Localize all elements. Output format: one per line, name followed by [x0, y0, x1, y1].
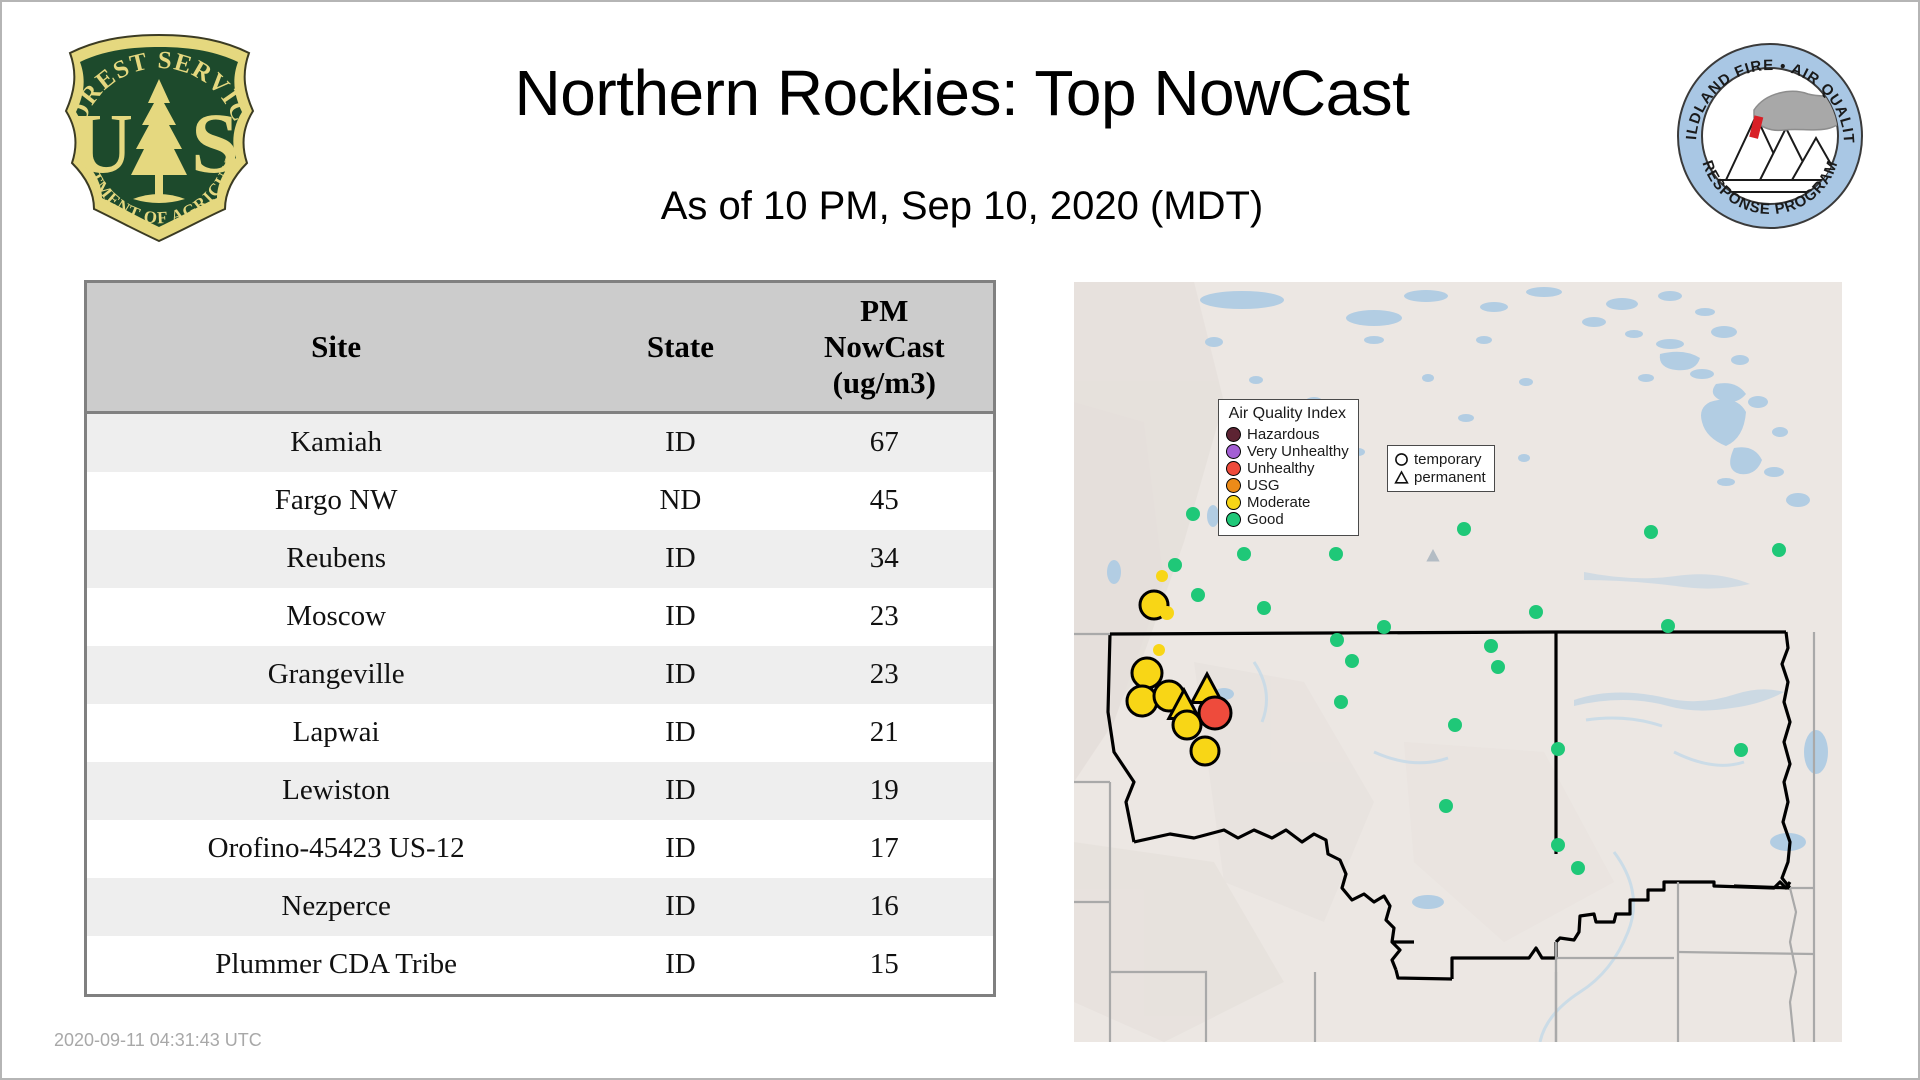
map-marker-temporary[interactable]	[1439, 799, 1453, 813]
legend-label-permanent: permanent	[1414, 469, 1486, 486]
table-cell-state: ID	[585, 762, 775, 820]
aqi-legend: Air Quality Index HazardousVery Unhealth…	[1218, 399, 1359, 536]
aqi-legend-row: Very Unhealthy	[1226, 443, 1349, 460]
map-marker-temporary[interactable]	[1330, 633, 1344, 647]
column-header-site: Site	[87, 283, 585, 412]
table-row: LewistonID19	[87, 762, 993, 820]
aqi-legend-swatch	[1226, 478, 1241, 493]
column-header-pm-line3: (ug/m3)	[780, 365, 989, 401]
table-cell-site: Nezperce	[87, 878, 585, 936]
page-subtitle: As of 10 PM, Sep 10, 2020 (MDT)	[272, 184, 1652, 229]
table-cell-state: ID	[585, 646, 775, 704]
map-marker-temporary[interactable]	[1661, 619, 1675, 633]
map-marker-temporary[interactable]	[1734, 743, 1748, 757]
legend-label-temporary: temporary	[1414, 451, 1482, 468]
map-marker-temporary[interactable]	[1529, 605, 1543, 619]
map-marker-temporary[interactable]	[1160, 606, 1174, 620]
table-row: KamiahID67	[87, 412, 993, 472]
aqi-legend-swatch	[1226, 427, 1241, 442]
table-row: GrangevilleID23	[87, 646, 993, 704]
map-marker-temporary[interactable]	[1173, 711, 1201, 739]
map-marker-temporary[interactable]	[1191, 588, 1205, 602]
table-cell-state: ID	[585, 936, 775, 994]
usfs-shield-logo: FOREST SERVICE DEPARTMENT OF AGRICULTURE…	[57, 27, 262, 247]
table-cell-state: ID	[585, 412, 775, 472]
table-cell-site: Reubens	[87, 530, 585, 588]
table-cell-state: ID	[585, 878, 775, 936]
legend-row-permanent: permanent	[1394, 468, 1486, 486]
map-marker-temporary[interactable]	[1199, 697, 1231, 729]
map-marker-temporary[interactable]	[1329, 547, 1343, 561]
aqi-legend-label: Unhealthy	[1247, 460, 1315, 477]
aqi-legend-label: Good	[1247, 511, 1284, 528]
aqi-legend-row: Moderate	[1226, 494, 1349, 511]
table-cell-state: ID	[585, 588, 775, 646]
permanent-triangle-icon	[1394, 470, 1409, 485]
column-header-state: State	[585, 283, 775, 412]
table-row: Fargo NWND45	[87, 472, 993, 530]
map-marker-temporary[interactable]	[1153, 644, 1165, 656]
nowcast-table: Site State PM NowCast (ug/m3) KamiahID67…	[84, 280, 996, 997]
map-marker-temporary[interactable]	[1571, 861, 1585, 875]
aqi-legend-swatch	[1226, 461, 1241, 476]
air-quality-map[interactable]	[1074, 282, 1842, 1042]
aqi-legend-label: Hazardous	[1247, 426, 1320, 443]
usfs-letter-u: U	[71, 95, 133, 191]
table-cell-site: Moscow	[87, 588, 585, 646]
usfs-letter-s: S	[191, 95, 239, 191]
map-marker-temporary[interactable]	[1377, 620, 1391, 634]
map-marker-temporary[interactable]	[1484, 639, 1498, 653]
table-cell-pm: 34	[776, 530, 993, 588]
aqi-legend-row: Good	[1226, 511, 1349, 528]
map-marker-temporary[interactable]	[1772, 543, 1786, 557]
table-row: LapwaiID21	[87, 704, 993, 762]
map-marker-temporary[interactable]	[1551, 838, 1565, 852]
map-marker-temporary[interactable]	[1448, 718, 1462, 732]
map-svg	[1074, 282, 1842, 1042]
table-cell-pm: 19	[776, 762, 993, 820]
table-cell-state: ID	[585, 820, 775, 878]
slide-canvas: FOREST SERVICE DEPARTMENT OF AGRICULTURE…	[0, 0, 1920, 1080]
aqi-legend-label: Very Unhealthy	[1247, 443, 1349, 460]
table-cell-pm: 23	[776, 646, 993, 704]
table-cell-site: Kamiah	[87, 412, 585, 472]
table-header-row: Site State PM NowCast (ug/m3)	[87, 283, 993, 412]
map-marker-temporary[interactable]	[1644, 525, 1658, 539]
table-cell-pm: 21	[776, 704, 993, 762]
table-cell-site: Fargo NW	[87, 472, 585, 530]
generated-timestamp: 2020-09-11 04:31:43 UTC	[54, 1030, 262, 1051]
map-marker-temporary[interactable]	[1551, 742, 1565, 756]
map-marker-temporary[interactable]	[1491, 660, 1505, 674]
aqi-legend-swatch	[1226, 444, 1241, 459]
map-marker-temporary[interactable]	[1345, 654, 1359, 668]
map-marker-temporary[interactable]	[1186, 507, 1200, 521]
map-marker-temporary[interactable]	[1156, 570, 1168, 582]
table-row: ReubensID34	[87, 530, 993, 588]
map-marker-temporary[interactable]	[1257, 601, 1271, 615]
table-cell-site: Orofino-45423 US-12	[87, 820, 585, 878]
table-cell-state: ND	[585, 472, 775, 530]
map-marker-temporary[interactable]	[1334, 695, 1348, 709]
column-header-pm-line2: NowCast	[780, 329, 989, 365]
table-row: MoscowID23	[87, 588, 993, 646]
table-row: NezperceID16	[87, 878, 993, 936]
site-type-legend: temporary permanent	[1387, 445, 1495, 492]
map-marker-temporary[interactable]	[1132, 658, 1162, 688]
aqi-legend-row: Hazardous	[1226, 426, 1349, 443]
column-header-pm: PM NowCast (ug/m3)	[776, 283, 993, 412]
map-marker-temporary[interactable]	[1191, 737, 1219, 765]
table-cell-site: Lewiston	[87, 762, 585, 820]
legend-row-temporary: temporary	[1394, 450, 1486, 468]
aqi-legend-title: Air Quality Index	[1226, 405, 1349, 423]
table-cell-pm: 45	[776, 472, 993, 530]
wfaqrp-logo: WILDLAND FIRE • AIR QUALITY RESPONSE PRO…	[1674, 40, 1866, 232]
table-cell-pm: 17	[776, 820, 993, 878]
column-header-pm-line1: PM	[780, 293, 989, 329]
page-title: Northern Rockies: Top NowCast	[272, 60, 1652, 127]
aqi-legend-row: USG	[1226, 477, 1349, 494]
map-marker-temporary[interactable]	[1168, 558, 1182, 572]
aqi-legend-swatch	[1226, 512, 1241, 527]
aqi-legend-swatch	[1226, 495, 1241, 510]
map-marker-temporary[interactable]	[1457, 522, 1471, 536]
map-marker-temporary[interactable]	[1127, 686, 1157, 716]
table-cell-pm: 16	[776, 878, 993, 936]
aqi-legend-label: Moderate	[1247, 494, 1310, 511]
table-cell-site: Lapwai	[87, 704, 585, 762]
map-marker-temporary[interactable]	[1237, 547, 1251, 561]
aqi-legend-label: USG	[1247, 477, 1280, 494]
table-cell-state: ID	[585, 704, 775, 762]
table-cell-pm: 15	[776, 936, 993, 994]
table-cell-site: Grangeville	[87, 646, 585, 704]
temporary-circle-icon	[1394, 452, 1409, 467]
table-cell-site: Plummer CDA Tribe	[87, 936, 585, 994]
table-row: Plummer CDA TribeID15	[87, 936, 993, 994]
table-cell-pm: 67	[776, 412, 993, 472]
aqi-legend-row: Unhealthy	[1226, 460, 1349, 477]
table-cell-pm: 23	[776, 588, 993, 646]
table-cell-state: ID	[585, 530, 775, 588]
table-row: Orofino-45423 US-12ID17	[87, 820, 993, 878]
